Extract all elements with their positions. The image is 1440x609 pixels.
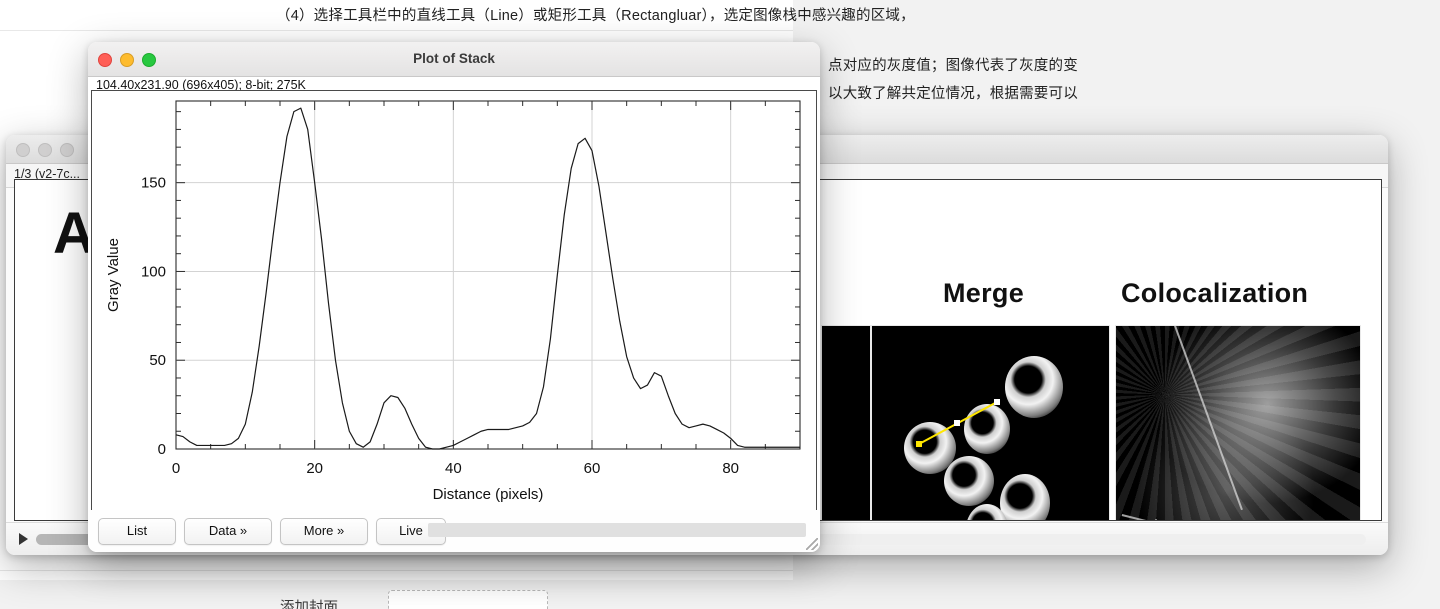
document-paragraph-3: 以大致了解共定位情况，根据需要可以 [828, 82, 1078, 103]
svg-text:Distance (pixels): Distance (pixels) [433, 486, 544, 503]
plot-horizontal-scrollbar[interactable] [428, 523, 806, 537]
panel-title-colocalization: Colocalization [1121, 278, 1308, 309]
micrograph-panel-merge: 20 μm [871, 325, 1110, 521]
data-button[interactable]: Data » [184, 518, 272, 545]
plot-canvas[interactable]: 050100150020406080Distance (pixels)Gray … [91, 90, 817, 512]
close-icon[interactable] [16, 143, 30, 157]
coloc-arc-icon [1115, 501, 1168, 521]
panel-title-merge: Merge [943, 278, 1024, 309]
document-divider-bottom [0, 570, 793, 571]
document-divider [0, 30, 793, 31]
minimize-icon[interactable] [38, 143, 52, 157]
svg-text:80: 80 [722, 460, 739, 477]
svg-text:0: 0 [172, 460, 180, 477]
roi-line-selection[interactable] [872, 326, 1109, 521]
gray-value-profile-chart: 050100150020406080Distance (pixels)Gray … [92, 91, 816, 511]
screen-root: （4）选择工具栏中的直线工具（Line）或矩形工具（Rectangluar），选… [0, 0, 1440, 609]
svg-text:0: 0 [158, 441, 166, 458]
add-cover-label: 添加封面 [280, 596, 338, 609]
document-paragraph-2: 点对应的灰度值；图像代表了灰度的变 [828, 54, 1078, 75]
plot-of-stack-window[interactable]: Plot of Stack 104.40x231.90 (696x405); 8… [88, 42, 820, 552]
resize-grip-icon[interactable] [806, 538, 818, 550]
svg-text:60: 60 [584, 460, 601, 477]
svg-text:100: 100 [141, 263, 166, 280]
plot-window-title: Plot of Stack [88, 42, 820, 76]
svg-text:50: 50 [149, 352, 166, 369]
svg-text:20: 20 [306, 460, 323, 477]
svg-text:150: 150 [141, 175, 166, 192]
document-paragraph-1: （4）选择工具栏中的直线工具（Line）或矩形工具（Rectangluar），选… [276, 4, 915, 25]
svg-text:40: 40 [445, 460, 462, 477]
micrograph-panel-colocalization: PCC = 0.92 [1115, 325, 1361, 521]
zoom-icon[interactable] [60, 143, 74, 157]
plot-button-bar: List Data » More » Live [88, 510, 820, 552]
more-button[interactable]: More » [280, 518, 368, 545]
add-cover-dropzone[interactable] [388, 590, 548, 609]
micrograph-panel-partial: 20 μm [821, 325, 871, 521]
plot-window-titlebar[interactable]: Plot of Stack [88, 42, 820, 77]
list-button[interactable]: List [98, 518, 176, 545]
svg-text:Gray Value: Gray Value [105, 238, 122, 312]
play-icon[interactable] [19, 533, 28, 545]
bg-window-traffic-lights[interactable] [16, 143, 74, 157]
colocalization-scatter [1116, 326, 1360, 521]
